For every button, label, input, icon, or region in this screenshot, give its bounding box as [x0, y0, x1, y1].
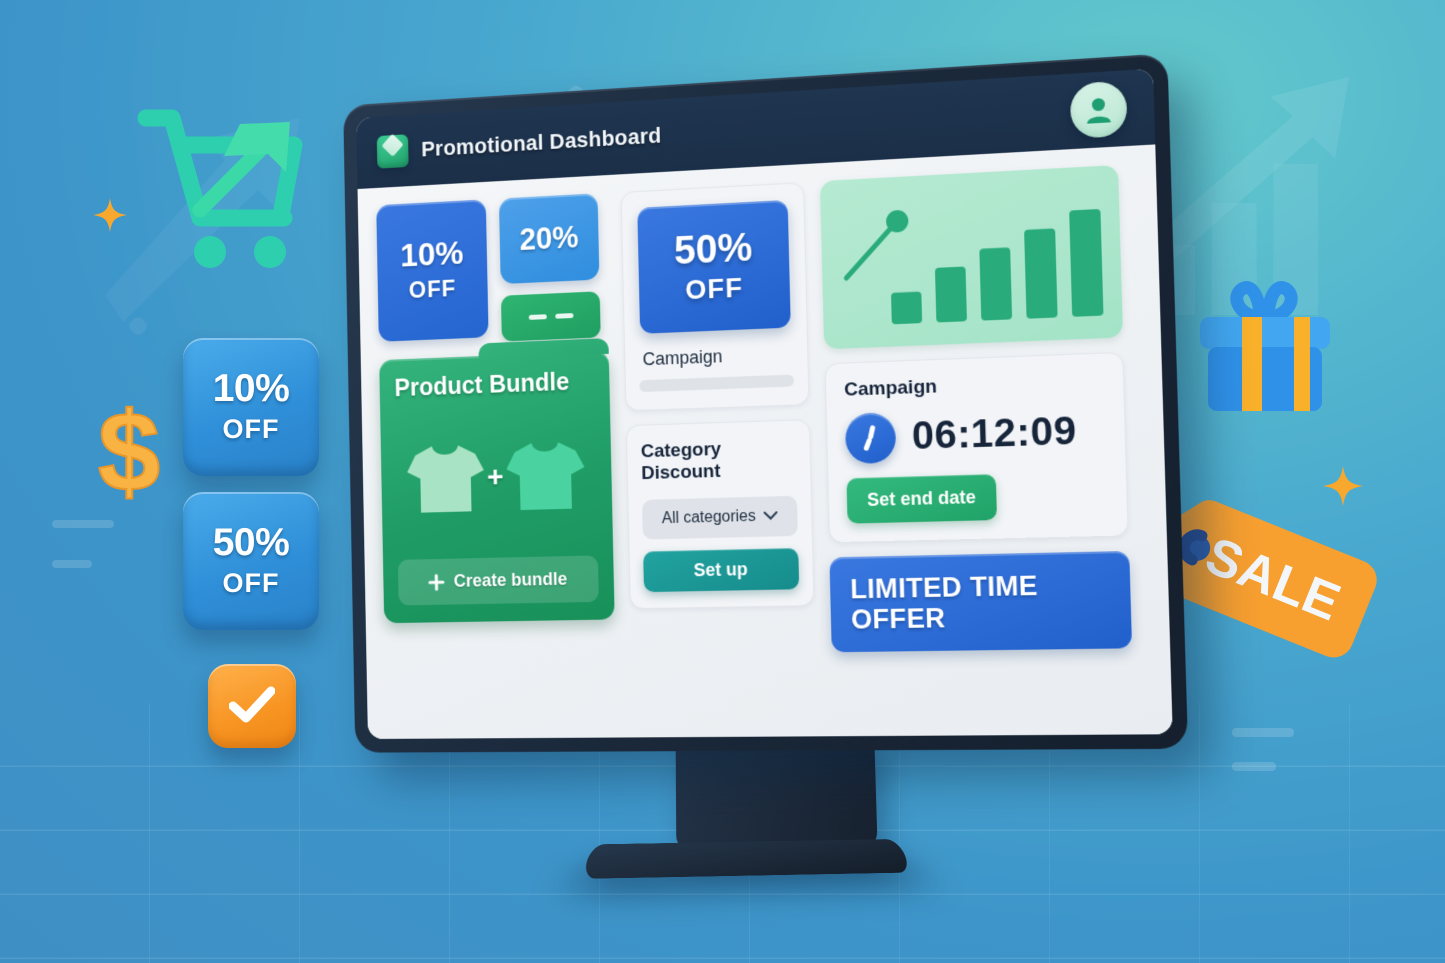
monitor: Promotional Dashboard 10% OFF — [343, 53, 1188, 752]
svg-text:$: $ — [98, 392, 160, 512]
dash-icon — [528, 314, 546, 320]
clock-minute-hand — [863, 437, 872, 451]
timer-row: 06:12:09 — [845, 405, 1107, 464]
avatar[interactable] — [1070, 80, 1128, 138]
clock-icon — [845, 412, 897, 464]
banner-line-2: OFFER — [851, 600, 1111, 635]
banner-line-1: LIMITED TIME — [850, 569, 1110, 605]
countdown-value: 06:12:09 — [911, 409, 1077, 459]
sparkle-icon — [93, 198, 127, 232]
background-dash — [1232, 728, 1294, 737]
bundle-title: Product Bundle — [394, 367, 594, 402]
shopping-cart-up-arrow-icon — [128, 100, 328, 280]
discount-tile-10[interactable]: 10% OFF — [376, 199, 488, 342]
screen: Promotional Dashboard 10% OFF — [356, 69, 1173, 739]
background-dash — [52, 560, 92, 568]
discount-tile-placeholder[interactable] — [501, 291, 601, 341]
create-bundle-label: Create bundle — [453, 569, 567, 592]
chart-bar — [979, 247, 1012, 320]
chart-bar — [935, 266, 967, 322]
monitor-base — [582, 839, 913, 879]
discount-tiles-substack: 20% — [499, 193, 601, 341]
tag-envelope-icon — [377, 134, 409, 168]
column-discounts: 10% OFF 20% Product Bundle — [376, 193, 615, 659]
tile-off-label: OFF — [409, 276, 457, 305]
chart-bar — [1024, 228, 1058, 319]
growth-chart-card — [820, 165, 1123, 349]
badge-percent: 50% — [213, 523, 290, 562]
campaign-discount-card: 50% OFF Campaign — [621, 182, 810, 411]
check-badge-prop — [208, 664, 296, 748]
limited-time-offer-banner[interactable]: LIMITED TIME OFFER — [829, 551, 1132, 653]
chart-trend-line — [845, 228, 892, 278]
page-title: Promotional Dashboard — [421, 123, 662, 162]
plus-icon — [428, 573, 445, 591]
discount-tile-20[interactable]: 20% — [499, 193, 600, 284]
category-select-value: All categories — [662, 508, 756, 528]
campaign-label: Campaign — [642, 346, 722, 370]
column-campaign: 50% OFF Campaign Category Discount All c… — [621, 182, 816, 655]
chart-bar — [1069, 209, 1103, 317]
category-select[interactable]: All categories — [642, 496, 798, 540]
dash-icon — [555, 313, 573, 319]
create-bundle-button[interactable]: Create bundle — [398, 555, 599, 605]
check-mark-icon — [229, 686, 275, 726]
bar-chart — [838, 188, 1103, 332]
dollar-sign-icon: $ — [83, 392, 175, 512]
discount-tile-50[interactable]: 50% OFF — [637, 200, 791, 334]
floating-badge-50-off: 50% OFF — [183, 492, 319, 630]
set-end-date-button[interactable]: Set end date — [846, 474, 997, 524]
user-avatar-icon — [1083, 93, 1115, 125]
badge-off-label: OFF — [223, 414, 280, 445]
chart-bar — [891, 292, 922, 325]
column-analytics: Campaign 06:12:09 Set end date LIMITED T… — [820, 165, 1132, 653]
bundle-plus-label: + — [487, 460, 504, 494]
tile-percent: 50% — [674, 228, 753, 271]
timer-card-title: Campaign — [844, 370, 1105, 402]
tshirt-icon — [503, 437, 588, 514]
tile-off-label: OFF — [685, 272, 743, 306]
discount-tiles-row: 10% OFF 20% — [376, 193, 608, 347]
tshirt-icon — [404, 440, 488, 516]
badge-off-label: OFF — [223, 568, 280, 599]
floating-badge-10-off: 10% OFF — [183, 338, 319, 476]
chevron-down-icon — [764, 512, 778, 521]
monitor-neck — [676, 739, 878, 852]
badge-percent: 10% — [213, 369, 290, 408]
set-up-button[interactable]: Set up — [643, 548, 799, 592]
dashboard-body: 10% OFF 20% Product Bundle — [358, 144, 1173, 739]
product-bundle-card: Product Bundle + Cre — [379, 351, 614, 623]
shopping-cart-prop — [128, 100, 328, 285]
category-card-title: Category Discount — [641, 437, 797, 486]
background-diamond — [127, 315, 150, 338]
category-discount-card: Category Discount All categories Set up — [626, 419, 815, 609]
campaign-timer-card: Campaign 06:12:09 Set end date — [825, 352, 1129, 543]
campaign-progress-bar[interactable] — [639, 374, 794, 392]
gift-box-icon — [1190, 277, 1340, 417]
background-dash — [52, 520, 114, 528]
bundle-products: + — [395, 407, 598, 546]
gift-box-prop — [1190, 277, 1340, 422]
tile-percent: 10% — [400, 236, 464, 272]
background-dash — [1232, 762, 1276, 771]
tile-percent: 20% — [519, 220, 579, 258]
